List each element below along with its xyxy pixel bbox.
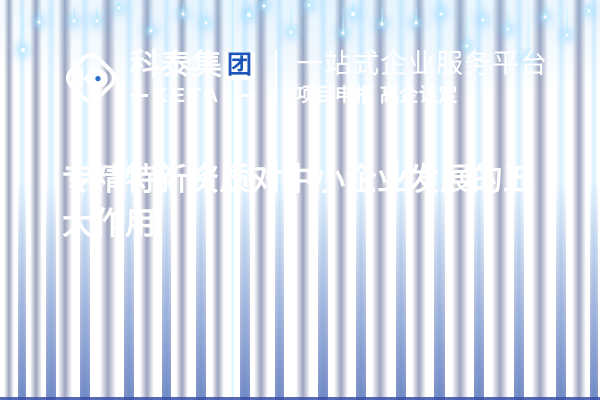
tagline-primary: 一站式企业服务平台 — [296, 49, 548, 79]
brand-name-cn-boxed: 团 — [225, 52, 255, 80]
header-divider — [275, 50, 277, 106]
brand-name-en-row: KETAI — [130, 86, 255, 106]
brand-logo: 科泰集 团 KETAI — [62, 49, 255, 107]
brand-rule-left — [130, 94, 148, 97]
tagline-secondary: 项目申报 高企认定 — [296, 86, 548, 107]
brand-wordmark: 科泰集 团 KETAI — [130, 51, 255, 106]
brand-rule-right — [237, 94, 255, 97]
brand-name-cn-plain: 科泰集 — [130, 51, 223, 81]
ketai-diamond-monogram-icon — [62, 49, 120, 107]
page-title: 专精特新资质对中小企业发展的五大作用 — [62, 158, 554, 246]
brand-name-cn: 科泰集 团 — [130, 51, 255, 81]
brand-name-en: KETAI — [153, 86, 232, 106]
tagline-block: 一站式企业服务平台 项目申报 高企认定 — [296, 49, 548, 106]
banner-header: 科泰集 团 KETAI 一站式企业服务平台 项目申报 高企认定 — [0, 40, 600, 116]
promo-banner: 科泰集 团 KETAI 一站式企业服务平台 项目申报 高企认定 专精特新资质对中… — [0, 0, 600, 400]
